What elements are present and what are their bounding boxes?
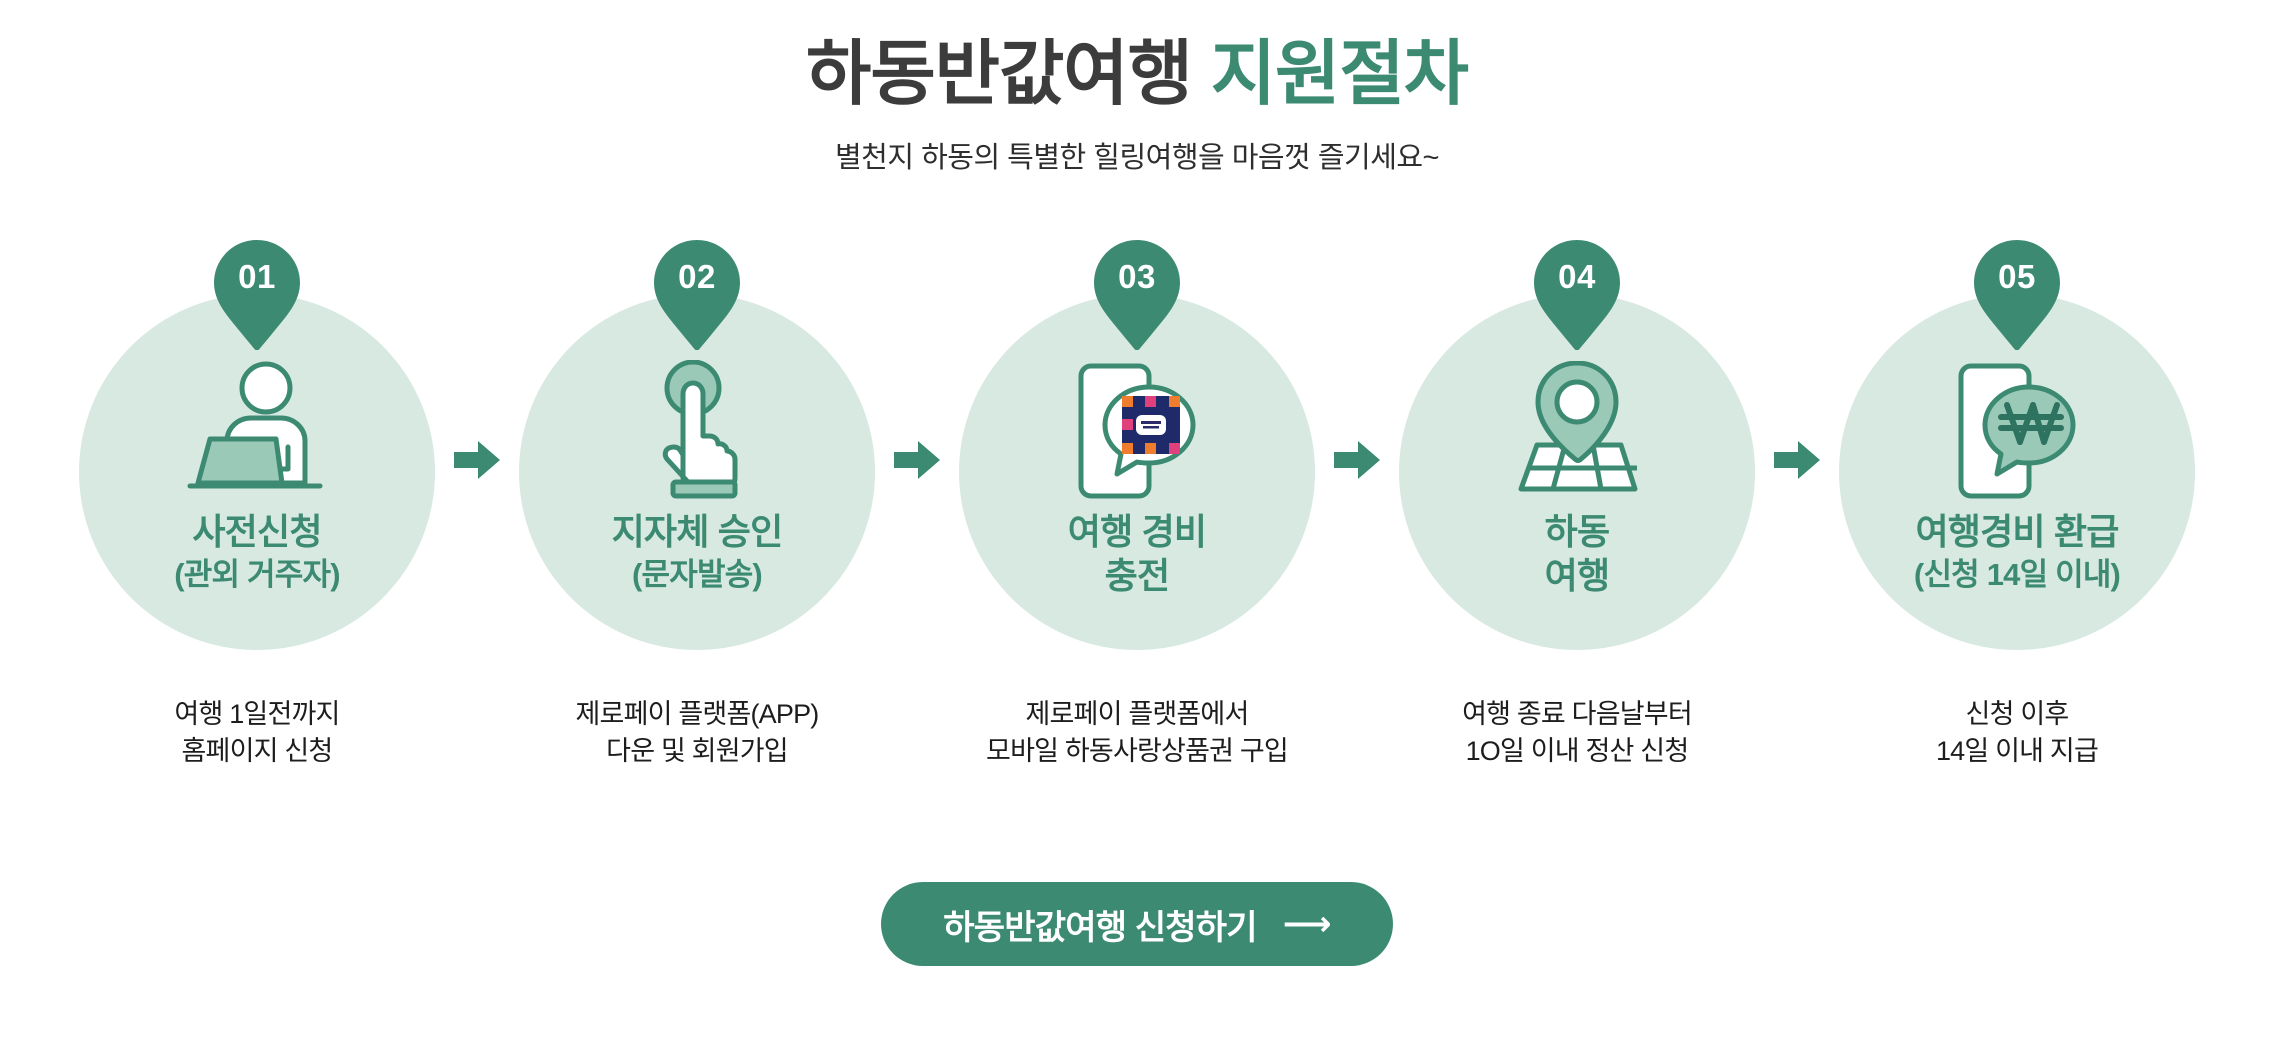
step-number-label: 01 bbox=[214, 258, 300, 296]
page-subtitle: 별천지 하동의 특별한 힐링여행을 마음껏 즐기세요~ bbox=[0, 134, 2274, 176]
step-title-main: 여행경비 환급 bbox=[1829, 510, 2205, 554]
step-number-pin: 03 bbox=[1094, 240, 1180, 350]
connector-arrow-4 bbox=[1765, 272, 1829, 648]
hand-tap-button-icon bbox=[617, 356, 777, 506]
step-number-pin: 02 bbox=[654, 240, 740, 350]
step-caption: 제로페이 플랫폼(APP) 다운 및 회원가입 bbox=[576, 696, 819, 771]
step-title-main: 지자체 승인 bbox=[509, 510, 885, 554]
step-title-main: 사전신청 bbox=[69, 510, 445, 554]
page-title-dark: 하동반값여행 bbox=[806, 35, 1192, 114]
step-number-pin: 01 bbox=[214, 240, 300, 350]
step-title-block: 사전신청 (관외 거주자) bbox=[69, 510, 445, 595]
step-title-block: 하동 여행 bbox=[1389, 510, 1765, 600]
step-number-label: 05 bbox=[1974, 258, 2060, 296]
step-number-pin: 04 bbox=[1534, 240, 1620, 350]
phone-won-message-icon bbox=[1937, 356, 2097, 506]
step-05: 05 bbox=[1829, 272, 2205, 771]
arrow-right-icon: ⟶ bbox=[1283, 907, 1331, 941]
page-header: 하동반값여행 지원절차 별천지 하동의 특별한 힐링여행을 마음껏 즐기세요~ bbox=[0, 34, 2274, 176]
step-05-bubble: 05 bbox=[1829, 272, 2205, 648]
qr-code-glyph bbox=[1122, 396, 1180, 454]
step-02: 02 지자체 승인 (문자발송) 제로페이 플랫폼(APP) 다운 및 회원가입 bbox=[509, 272, 885, 771]
step-04-bubble: 04 하동 여행 bbox=[1389, 272, 1765, 648]
page-title: 하동반값여행 지원절차 bbox=[0, 34, 2274, 116]
connector-arrow-2 bbox=[885, 272, 949, 648]
infographic-page: 하동반값여행 지원절차 별천지 하동의 특별한 힐링여행을 마음껏 즐기세요~ … bbox=[0, 0, 2274, 1056]
step-title-sub: (관외 거주자) bbox=[69, 556, 445, 595]
person-laptop-icon bbox=[177, 356, 337, 506]
step-title-block: 여행 경비 충전 bbox=[949, 510, 1325, 600]
connector-arrow-1 bbox=[445, 272, 509, 648]
phone-qr-message-icon bbox=[1057, 356, 1217, 506]
step-number-pin: 05 bbox=[1974, 240, 2060, 350]
step-number-label: 02 bbox=[654, 258, 740, 296]
steps-flow: 01 사전신청 (관외 거주자) 여행 1일전까지 홈페이지 신청 bbox=[0, 272, 2274, 812]
step-02-bubble: 02 지자체 승인 (문자발송) bbox=[509, 272, 885, 648]
step-caption: 제로페이 플랫폼에서 모바일 하동사랑상품권 구입 bbox=[986, 696, 1288, 771]
page-title-green: 지원절차 bbox=[1211, 35, 1468, 114]
apply-button-label: 하동반값여행 신청하기 bbox=[943, 900, 1256, 949]
apply-button[interactable]: 하동반값여행 신청하기 ⟶ bbox=[881, 882, 1392, 966]
step-01-bubble: 01 사전신청 (관외 거주자) bbox=[69, 272, 445, 648]
step-title-sub: (문자발송) bbox=[509, 556, 885, 595]
step-number-label: 04 bbox=[1534, 258, 1620, 296]
step-caption: 여행 1일전까지 홈페이지 신청 bbox=[174, 696, 339, 771]
step-caption: 여행 종료 다음날부터 1O일 이내 정산 신청 bbox=[1462, 696, 1692, 771]
step-04: 04 하동 여행 여행 종료 다음날부터 bbox=[1389, 272, 1765, 771]
step-title-sub: (신청 14일 이내) bbox=[1829, 556, 2205, 595]
map-pin-icon bbox=[1497, 356, 1657, 506]
step-03: 03 bbox=[949, 272, 1325, 771]
step-caption: 신청 이후 14일 이내 지급 bbox=[1936, 696, 2098, 771]
connector-arrow-3 bbox=[1325, 272, 1389, 648]
step-title-main: 여행 경비 충전 bbox=[949, 510, 1325, 598]
step-01: 01 사전신청 (관외 거주자) 여행 1일전까지 홈페이지 신청 bbox=[69, 272, 445, 771]
step-number-label: 03 bbox=[1094, 258, 1180, 296]
step-title-block: 여행경비 환급 (신청 14일 이내) bbox=[1829, 510, 2205, 595]
step-03-bubble: 03 bbox=[949, 272, 1325, 648]
step-title-main: 하동 여행 bbox=[1389, 510, 1765, 598]
cta-container: 하동반값여행 신청하기 ⟶ bbox=[0, 882, 2274, 966]
step-title-block: 지자체 승인 (문자발송) bbox=[509, 510, 885, 595]
